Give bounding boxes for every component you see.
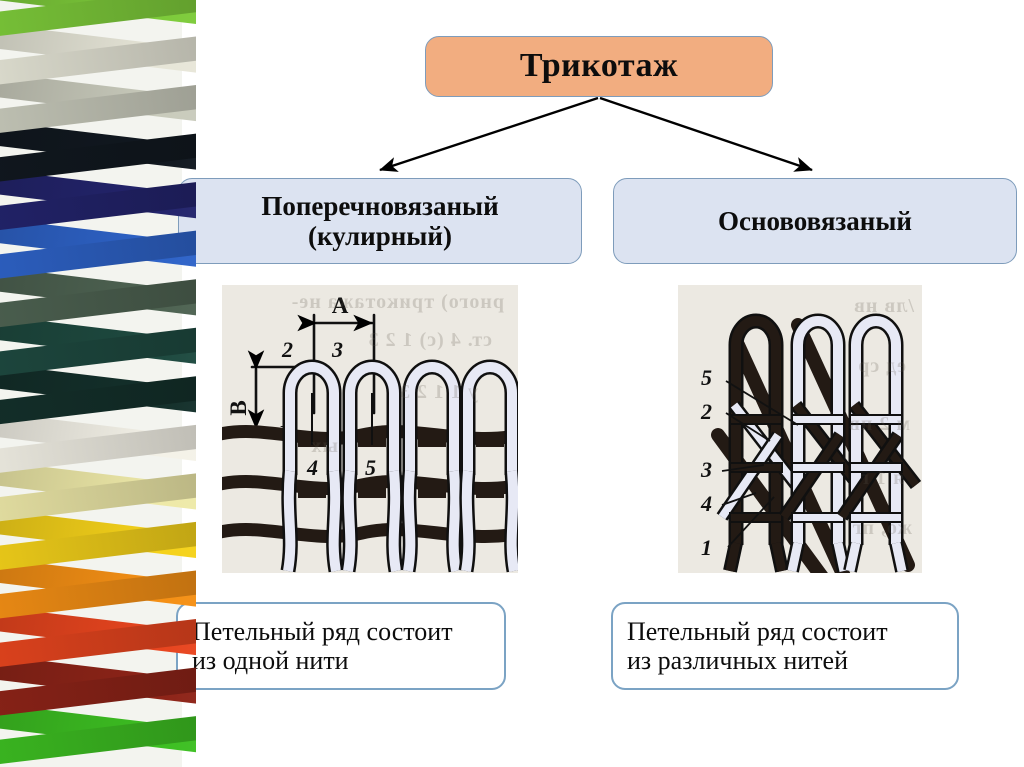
branch-label-weft: Поперечновязаный (кулирный): [261, 191, 498, 251]
note-box-warp: Петельный ряд состоит из различных нитей: [611, 602, 959, 690]
weft-label-4: 4: [306, 455, 318, 480]
warp-label-5: 5: [701, 365, 712, 390]
warp-label-4: 4: [700, 491, 712, 516]
warp-label-2: 2: [700, 399, 712, 424]
arrow-to-weft: [380, 98, 598, 170]
branch-label-warp: Основовязаный: [718, 206, 912, 236]
arrow-to-warp: [600, 98, 812, 170]
warp-knit-diagram: /лв нв ед ср м 2 пв я 1 г жо, пг 5 2 3 4…: [678, 285, 922, 573]
weft-knit-drawing: A B 1 2 3 4 5: [222, 285, 518, 573]
slide-canvas: Трикотаж Поперечновязаный (кулирный) Осн…: [0, 0, 1024, 767]
branch-box-warp[interactable]: Основовязаный: [613, 178, 1017, 264]
note-box-weft: Петельный ряд состоит из одной нити: [176, 602, 506, 690]
note-label-warp: Петельный ряд состоит из различных нитей: [627, 617, 888, 675]
diagram-title-box: Трикотаж: [425, 36, 773, 97]
weft-label-2: 2: [281, 337, 293, 362]
diagram-title-label: Трикотаж: [520, 47, 678, 85]
weft-dim-label-A: A: [332, 293, 349, 318]
sheet-layer: [0, 0, 196, 38]
warp-label-1: 1: [701, 535, 712, 560]
note-label-weft: Петельный ряд состоит из одной нити: [192, 617, 453, 675]
stacked-sheets-photo: [0, 0, 196, 767]
warp-label-3: 3: [700, 457, 712, 482]
weft-knit-diagram: рного) трикотажа не- ст. 4 (с) 1 2 3 у 1…: [222, 285, 518, 573]
branch-box-weft[interactable]: Поперечновязаный (кулирный): [178, 178, 582, 264]
weft-label-3: 3: [331, 337, 343, 362]
warp-knit-drawing: 5 2 3 4 1: [678, 285, 922, 573]
weft-dim-label-B: B: [226, 400, 251, 415]
